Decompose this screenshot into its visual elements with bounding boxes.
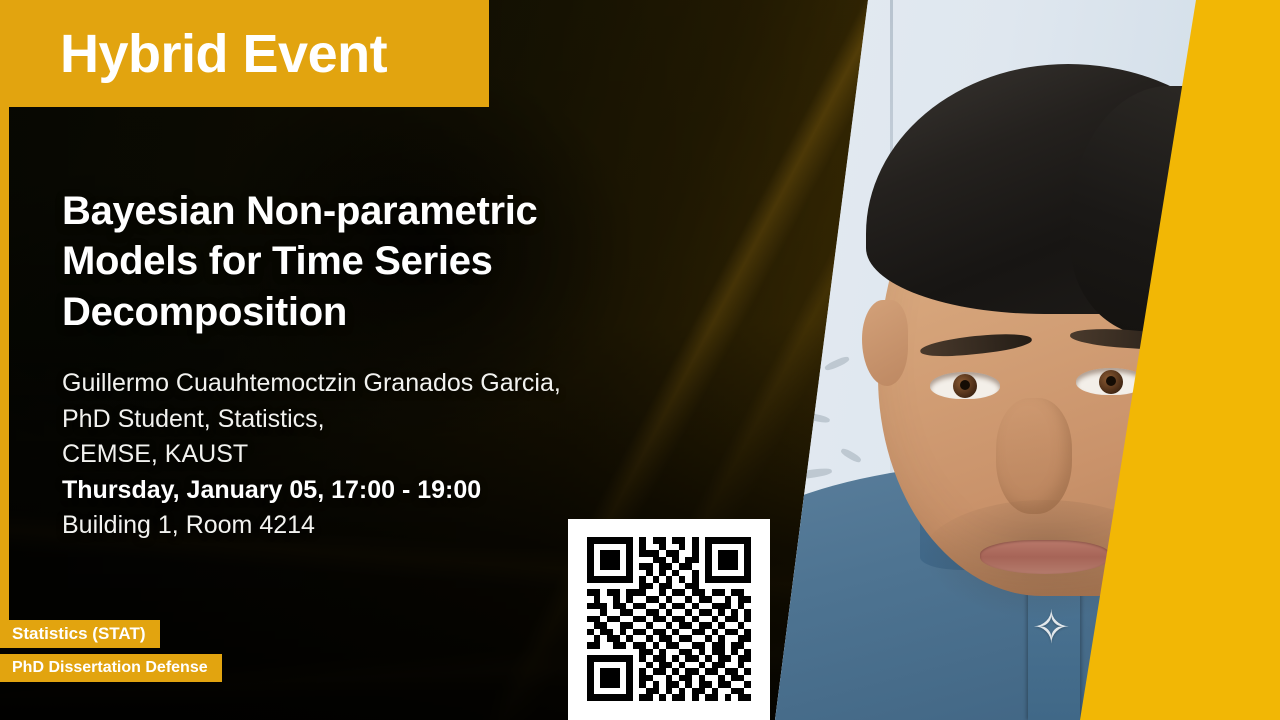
qr-code-panel[interactable] [568,519,770,720]
left-gold-rail [0,107,9,627]
ear [862,300,908,386]
mouth [980,540,1110,574]
pupil [960,380,970,390]
status-badge-event-type: PhD Dissertation Defense [0,654,222,682]
speaker-name: Guillermo Cuauhtemoctzin Granados Garcia… [62,366,702,402]
department-label: Statistics (STAT) [12,624,146,644]
pupil [1106,376,1116,386]
page-title: Bayesian Non-parametric Models for Time … [62,186,662,337]
nose [996,398,1072,514]
speaker-role: PhD Student, Statistics, [62,402,702,438]
event-poster: ✧ ✧ Hybrid Event B [0,0,1280,720]
speaker-affiliation: CEMSE, KAUST [62,437,702,473]
event-datetime: Thursday, January 05, 17:00 - 19:00 [62,473,702,509]
qr-code[interactable] [587,537,751,701]
event-type-label: PhD Dissertation Defense [12,659,208,677]
hybrid-event-label: Hybrid Event [60,23,387,85]
eye-left [930,372,1000,399]
hybrid-event-banner: Hybrid Event [0,0,489,107]
event-details: Guillermo Cuauhtemoctzin Granados Garcia… [62,366,702,544]
status-badge-department: Statistics (STAT) [0,620,160,648]
